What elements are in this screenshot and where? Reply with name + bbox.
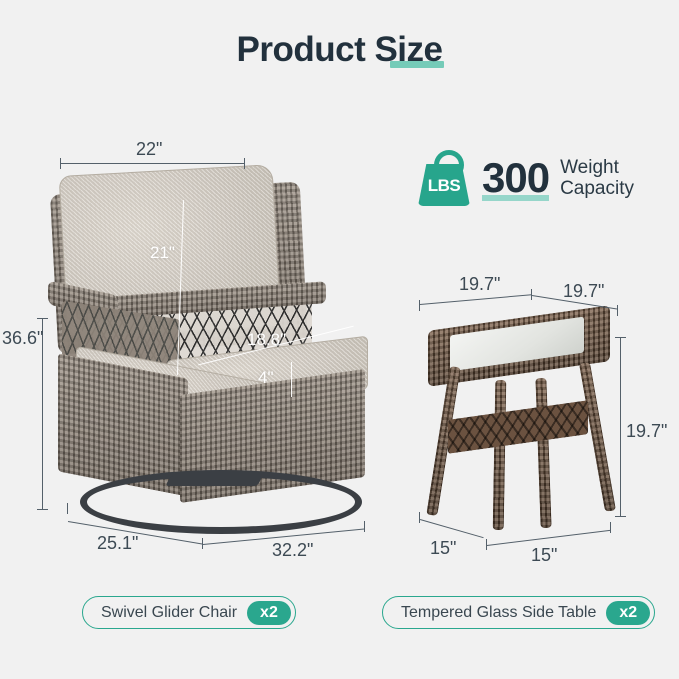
chair-seat-depth-label: 18.8" xyxy=(247,330,286,350)
swivel-glider-chair-image xyxy=(48,170,400,520)
tempered-glass-side-table-image xyxy=(420,300,620,545)
table-lower-shelf xyxy=(448,400,588,454)
chair-base-width-label: 32.2" xyxy=(272,540,313,561)
page-title: Product Size xyxy=(237,30,443,70)
page-title-text: Product Size xyxy=(237,30,443,69)
weight-label-line2: Capacity xyxy=(560,178,634,199)
product-pill-chair-label: Swivel Glider Chair xyxy=(101,604,237,622)
chair-height-cap-bottom xyxy=(37,509,48,510)
weight-icon-label: LBS xyxy=(418,176,470,196)
product-pill-side-table-count: x2 xyxy=(606,601,650,625)
weight-value-wrap: 300 xyxy=(482,157,549,199)
chair-base-width-cap-right xyxy=(364,521,365,532)
chair-width-label: 22" xyxy=(136,139,162,160)
chair-width-cap-right xyxy=(244,158,245,169)
chair-height-label: 36.6" xyxy=(2,328,43,349)
table-base-width-cap-right xyxy=(610,522,611,533)
weight-value: 300 xyxy=(482,157,549,199)
infographic-canvas: Product Size LBS 300 Weight Capacity xyxy=(0,0,679,679)
chair-depth-cap-left xyxy=(67,503,68,514)
chair-width-dimension-line xyxy=(60,163,245,164)
chair-swivel-spoke xyxy=(165,476,262,486)
page-title-container: Product Size xyxy=(0,30,679,70)
table-base-width-cap-left xyxy=(486,539,487,550)
weight-capacity-label: Weight Capacity xyxy=(560,157,634,200)
product-pill-side-table-label: Tempered Glass Side Table xyxy=(401,604,596,622)
table-top-left-label: 19.7" xyxy=(459,274,500,295)
product-pill-chair[interactable]: Swivel Glider Chair x2 xyxy=(82,596,296,629)
chair-back-cushion-height-label: 21" xyxy=(150,243,175,263)
weight-label-line1: Weight xyxy=(560,157,634,178)
table-leg-back-right xyxy=(535,378,551,528)
product-pill-side-table[interactable]: Tempered Glass Side Table x2 xyxy=(382,596,655,629)
weight-lbs-icon: LBS xyxy=(418,150,470,206)
table-base-width-label: 15" xyxy=(531,545,557,566)
table-height-cap-bottom xyxy=(615,516,626,517)
chair-width-cap-left xyxy=(60,158,61,169)
table-base-depth-cap-left xyxy=(419,512,420,523)
table-base-depth-label: 15" xyxy=(430,538,456,559)
table-leg-front-right xyxy=(579,362,616,511)
weight-value-underline xyxy=(482,195,549,201)
chair-base-width-cap-left xyxy=(202,538,203,549)
table-top-left-cap xyxy=(419,300,420,311)
chair-cushion-thickness-label: 4" xyxy=(258,368,274,388)
chair-cushion-thickness-white-line xyxy=(291,362,292,397)
chair-height-cap-top xyxy=(37,318,48,319)
table-height-cap-top xyxy=(615,337,626,338)
table-top-right-cap xyxy=(617,305,618,316)
table-leg-back-left xyxy=(493,380,507,530)
table-top-right-label: 19.7" xyxy=(563,281,604,302)
chair-depth-label: 25.1" xyxy=(97,533,138,554)
table-height-label: 19.7" xyxy=(626,421,667,442)
product-pill-chair-count: x2 xyxy=(247,601,291,625)
weight-capacity-block: LBS 300 Weight Capacity xyxy=(418,150,634,206)
table-height-dimension-line xyxy=(620,337,621,517)
